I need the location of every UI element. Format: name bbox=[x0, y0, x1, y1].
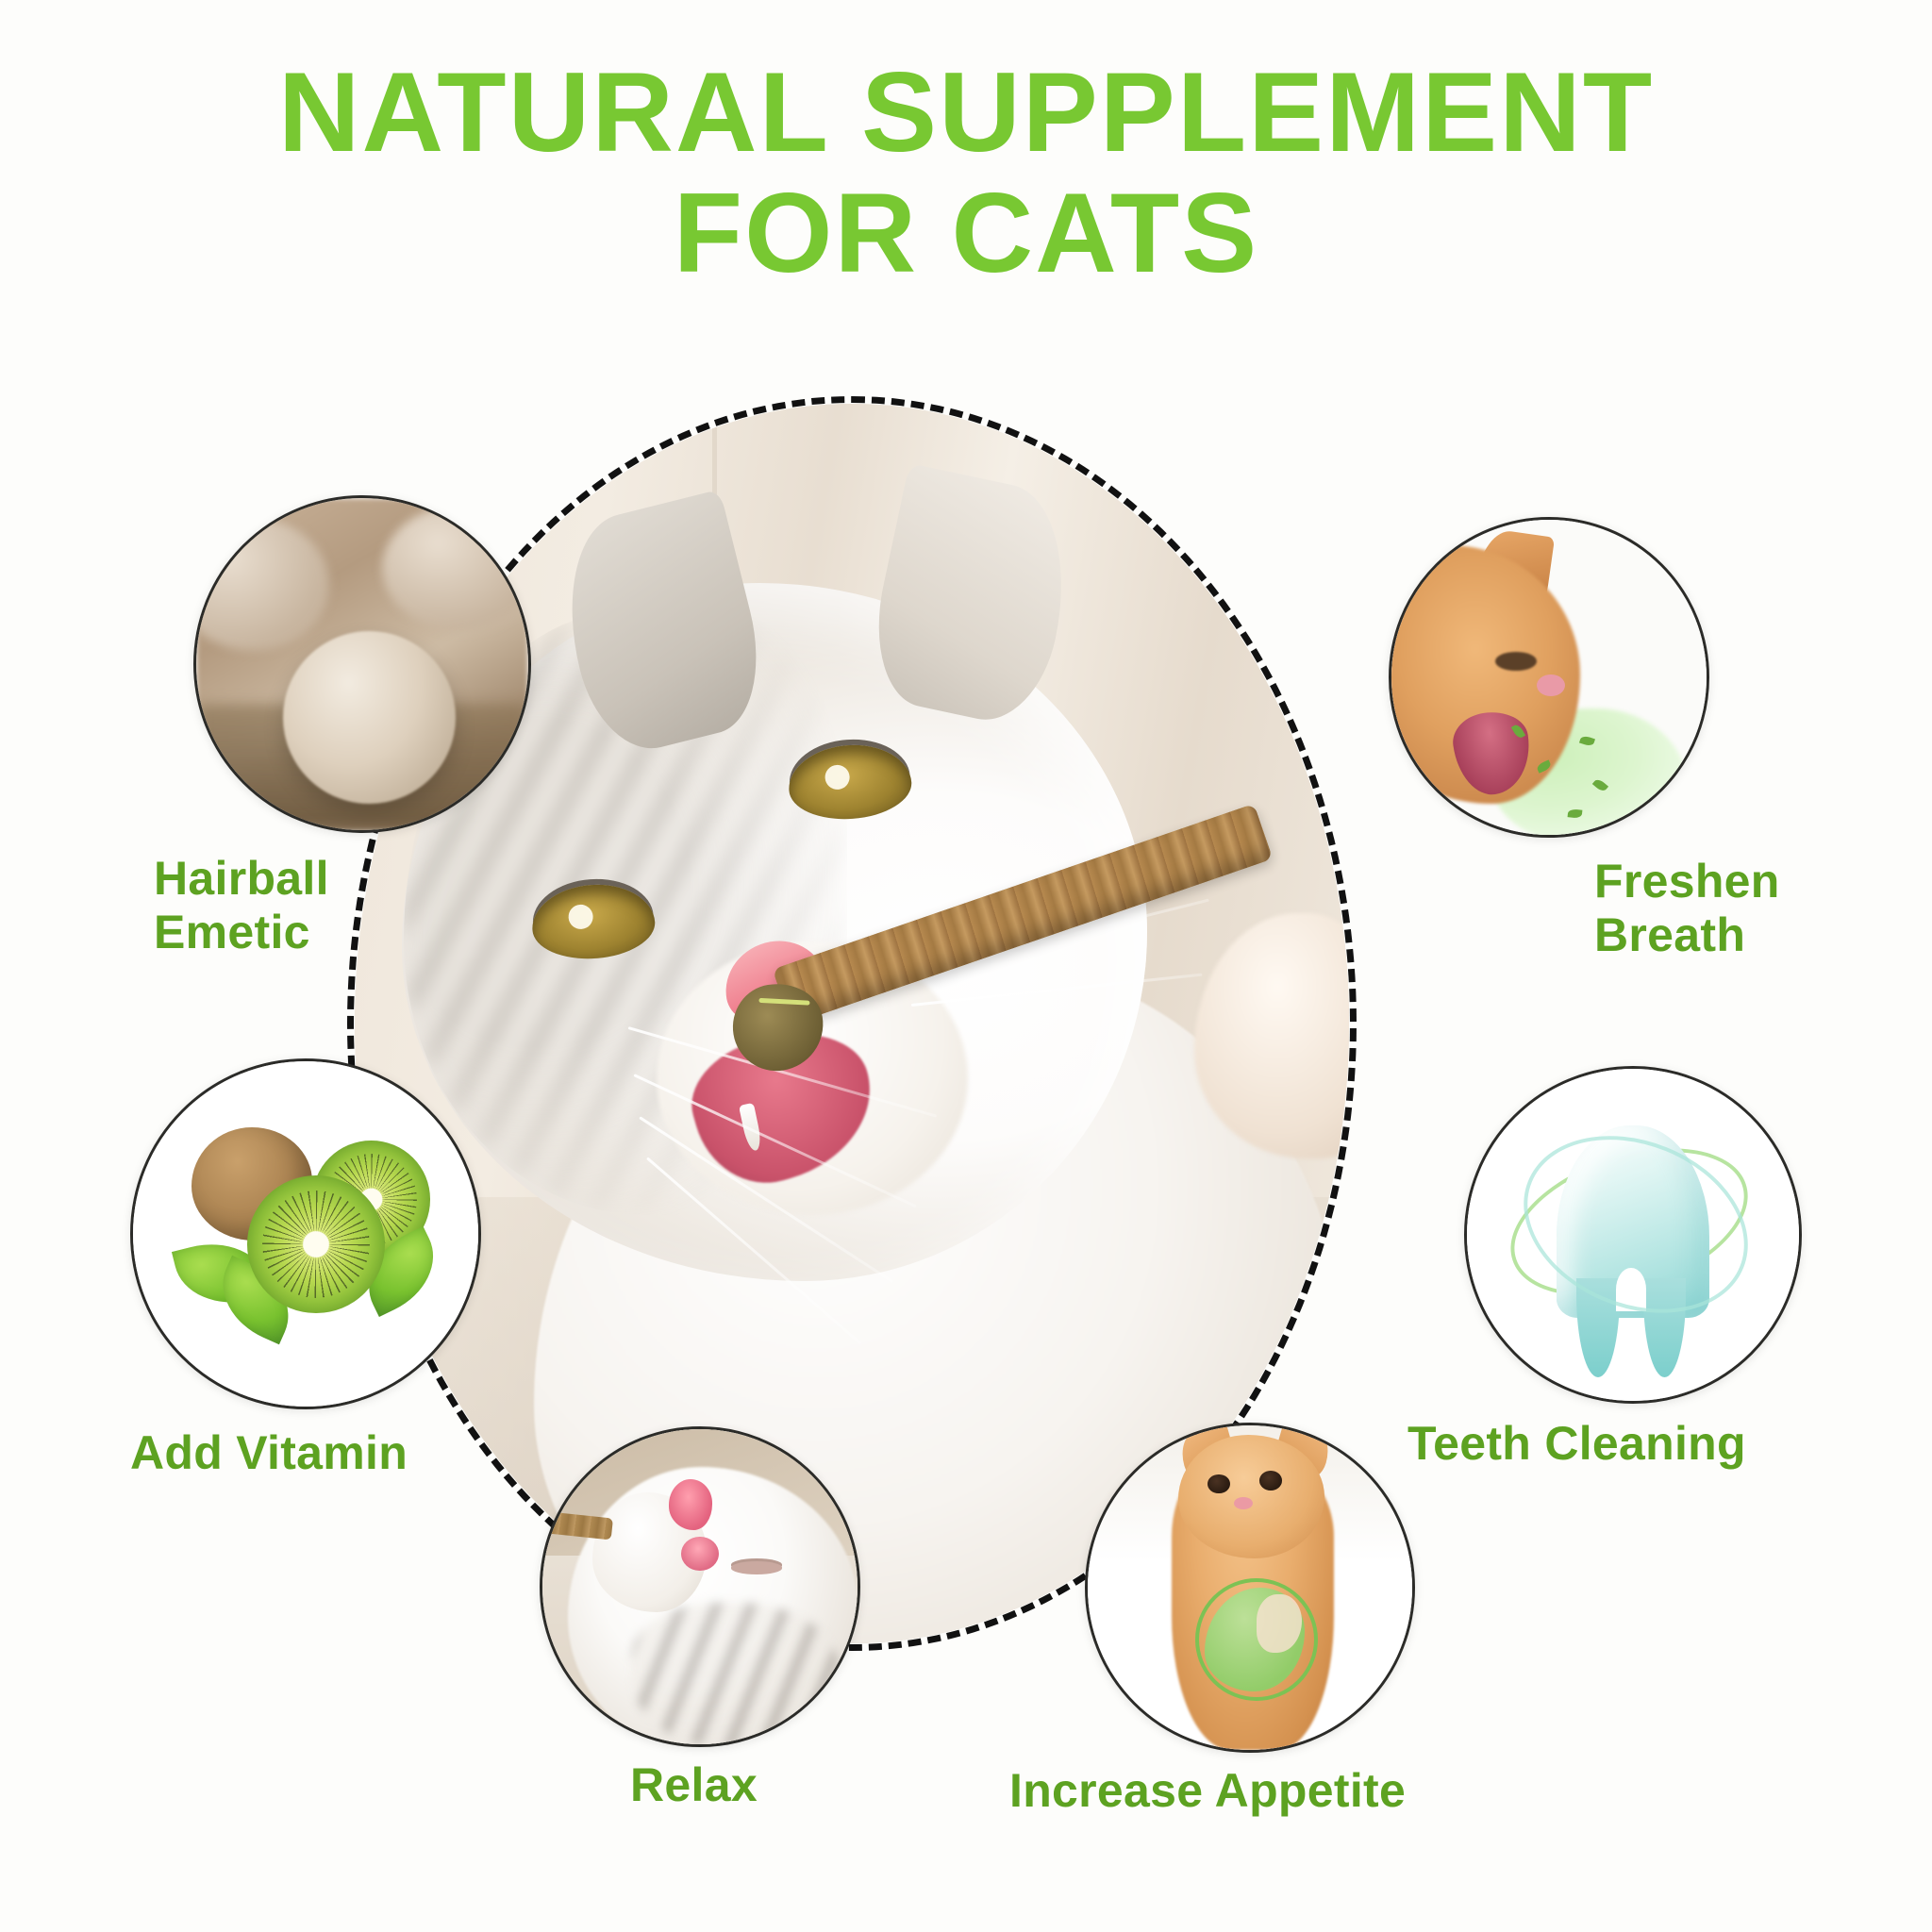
title-line-1: NATURAL SUPPLEMENT bbox=[0, 55, 1932, 170]
hairball-clump bbox=[283, 631, 456, 804]
orange-cat-eye-right bbox=[1259, 1471, 1282, 1491]
benefit-label-vitamin: Add Vitamin bbox=[130, 1426, 408, 1480]
freshen-breath-photo-icon bbox=[1389, 517, 1709, 838]
benefit-add-vitamin[interactable]: Add Vitamin bbox=[130, 1058, 481, 1409]
benefit-hairball-emetic[interactable]: Hairball Emetic bbox=[193, 495, 531, 833]
hairball-photo-icon bbox=[193, 495, 531, 833]
benefit-label-relax: Relax bbox=[630, 1758, 758, 1812]
product-infographic-poster: NATURAL SUPPLEMENT FOR CATS bbox=[0, 0, 1932, 1932]
benefit-label-appetite: Increase Appetite bbox=[1009, 1764, 1406, 1818]
benefit-increase-appetite[interactable]: Increase Appetite bbox=[1085, 1423, 1415, 1753]
cat-closed-eye bbox=[731, 1561, 781, 1574]
hairball-blur-blob bbox=[382, 505, 531, 631]
relax-photo-icon bbox=[540, 1426, 860, 1747]
appetite-background bbox=[1088, 1425, 1412, 1750]
kiwi-photo-icon bbox=[130, 1058, 481, 1409]
orange-cat-head bbox=[1178, 1435, 1324, 1558]
benefit-teeth-cleaning[interactable]: Teeth Cleaning bbox=[1464, 1066, 1802, 1404]
orbit-ring-icon bbox=[1497, 1105, 1774, 1345]
benefit-relax[interactable]: Relax bbox=[540, 1426, 860, 1747]
page-title: NATURAL SUPPLEMENT FOR CATS bbox=[0, 55, 1932, 291]
benefit-freshen-breath[interactable]: Freshen Breath bbox=[1389, 517, 1709, 838]
orange-cat-eye bbox=[1495, 652, 1536, 671]
benefit-label-hairball: Hairball Emetic bbox=[154, 852, 329, 959]
orange-cat-nose bbox=[1537, 675, 1565, 696]
cat-tabby-markings bbox=[631, 1603, 839, 1747]
paw-pad-pink bbox=[681, 1537, 719, 1572]
paw-pad-pink bbox=[669, 1479, 713, 1529]
relax-background bbox=[542, 1429, 858, 1744]
benefit-label-teeth: Teeth Cleaning bbox=[1407, 1417, 1746, 1471]
freshen-background bbox=[1391, 520, 1707, 835]
kiwi-background bbox=[133, 1061, 478, 1407]
tooth-background bbox=[1467, 1069, 1799, 1401]
title-line-2: FOR CATS bbox=[0, 175, 1932, 291]
tooth-icon bbox=[1464, 1066, 1802, 1404]
appetite-photo-icon bbox=[1085, 1423, 1415, 1753]
kiwi-slice-front bbox=[247, 1175, 385, 1313]
stomach-icon-ring bbox=[1195, 1578, 1319, 1702]
benefit-label-freshen: Freshen Breath bbox=[1594, 855, 1780, 962]
